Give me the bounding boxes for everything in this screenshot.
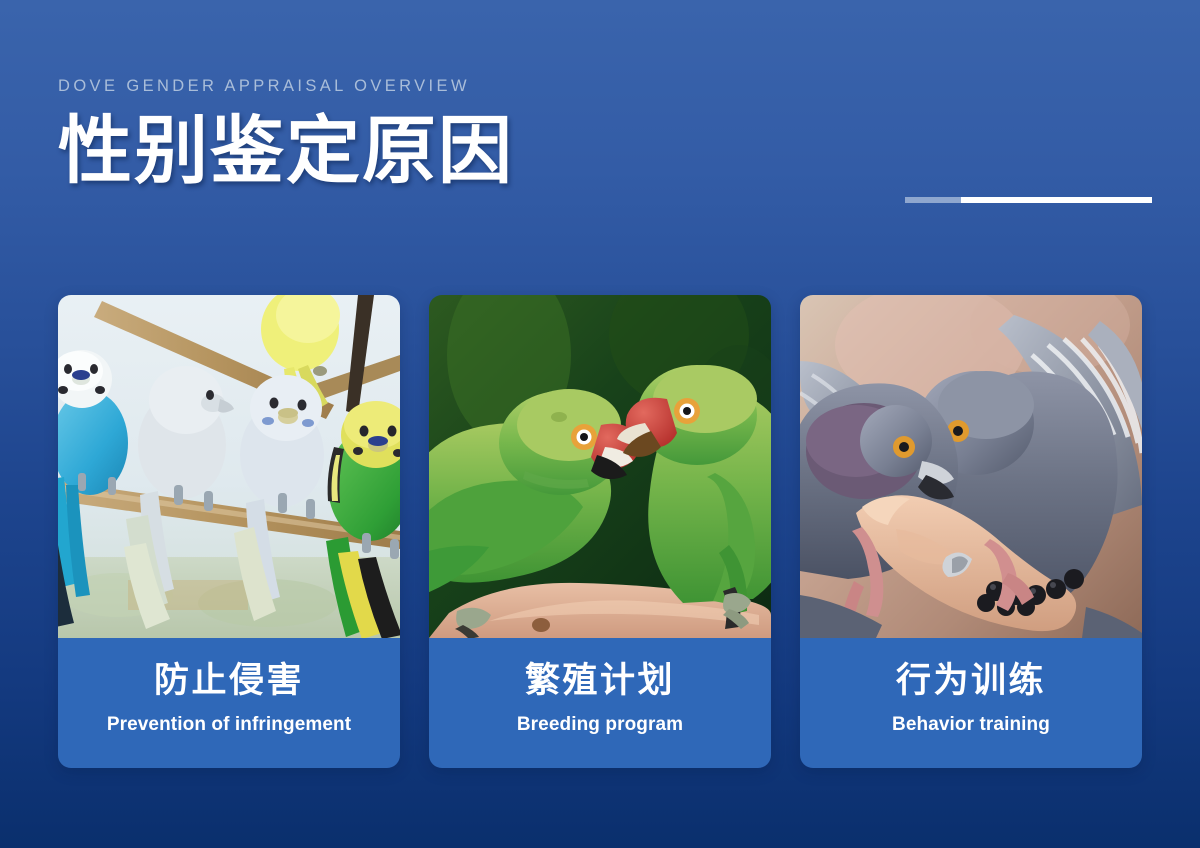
card-caption: 繁殖计划 Breeding program: [429, 638, 771, 768]
slide-canvas: DOVE GENDER APPRAISAL OVERVIEW 性别鉴定原因: [0, 0, 1200, 848]
header-divider: [905, 197, 1152, 203]
card-photo-parakeets: [429, 295, 771, 638]
card-photo-pigeons: [800, 295, 1142, 638]
card-caption: 防止侵害 Prevention of infringement: [58, 638, 400, 768]
card-behavior[interactable]: 行为训练 Behavior training: [800, 295, 1142, 768]
card-grid: 防止侵害 Prevention of infringement: [58, 295, 1142, 768]
eyebrow-text: DOVE GENDER APPRAISAL OVERVIEW: [58, 78, 1158, 95]
card-photo-budgerigars: [58, 295, 400, 638]
card-title-cn: 行为训练: [896, 661, 1046, 701]
card-prevention[interactable]: 防止侵害 Prevention of infringement: [58, 295, 400, 768]
divider-segment-light: [961, 197, 1152, 203]
card-title-cn: 繁殖计划: [525, 661, 675, 701]
card-title-en: Prevention of infringement: [107, 714, 351, 737]
card-title-en: Breeding program: [517, 714, 683, 737]
header: DOVE GENDER APPRAISAL OVERVIEW 性别鉴定原因: [58, 78, 1158, 189]
page-title: 性别鉴定原因: [58, 113, 1158, 190]
divider-segment-muted: [905, 197, 961, 203]
card-title-en: Behavior training: [892, 714, 1050, 737]
card-title-cn: 防止侵害: [154, 661, 304, 701]
card-breeding[interactable]: 繁殖计划 Breeding program: [429, 295, 771, 768]
card-caption: 行为训练 Behavior training: [800, 638, 1142, 768]
